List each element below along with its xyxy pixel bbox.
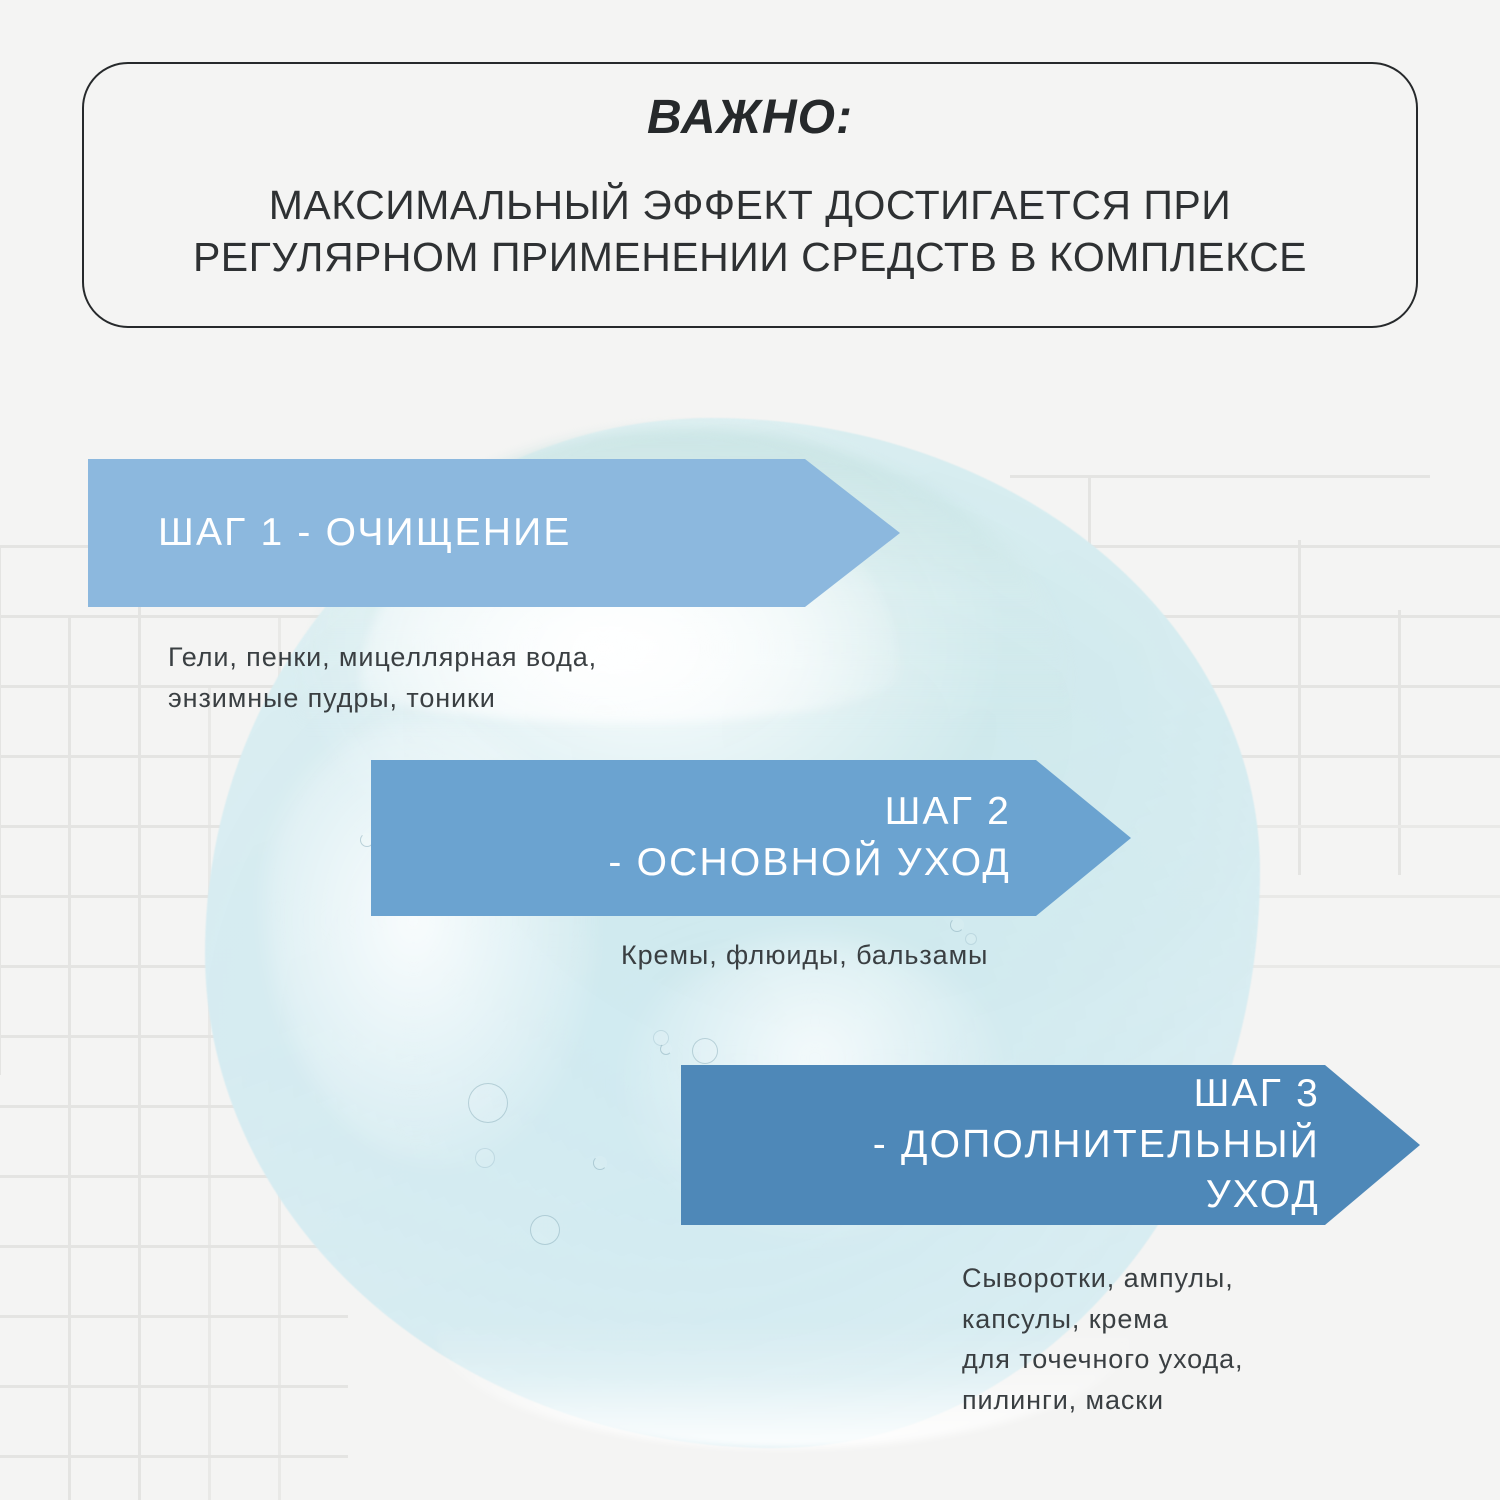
step-1-arrow-shape: ШАГ 1 - ОЧИЩЕНИЕ [88, 459, 900, 607]
bubble-icon [593, 1156, 607, 1170]
bubble-icon [950, 918, 964, 932]
bubble-icon [468, 1083, 508, 1123]
page-subtitle: МАКСИМАЛЬНЫЙ ЭФФЕКТ ДОСТИГАЕТСЯ ПРИ РЕГУ… [193, 179, 1307, 284]
important-callout-box: ВАЖНО: МАКСИМАЛЬНЫЙ ЭФФЕКТ ДОСТИГАЕТСЯ П… [82, 62, 1418, 328]
step-1-label: ШАГ 1 - ОЧИЩЕНИЕ [88, 508, 900, 559]
bubble-icon [653, 1030, 669, 1046]
bubble-icon [475, 1148, 495, 1168]
step-2-arrow-shape: ШАГ 2 - ОСНОВНОЙ УХОД [371, 760, 1131, 916]
bubble-icon [660, 1043, 672, 1055]
step-2-arrow[interactable]: ШАГ 2 - ОСНОВНОЙ УХОД [371, 760, 1131, 916]
step-2-label: ШАГ 2 - ОСНОВНОЙ УХОД [371, 787, 1131, 888]
bubble-icon [530, 1215, 560, 1245]
bubble-icon [692, 1038, 718, 1064]
page-title: ВАЖНО: [647, 92, 853, 145]
step-2-caption: Кремы, флюиды, бальзамы [621, 935, 988, 976]
step-1-arrow[interactable]: ШАГ 1 - ОЧИЩЕНИЕ [88, 459, 900, 607]
step-1-caption: Гели, пенки, мицеллярная вода, энзимные … [168, 637, 597, 718]
step-3-arrow[interactable]: ШАГ 3 - ДОПОЛНИТЕЛЬНЫЙ УХОД [681, 1065, 1420, 1225]
infographic-canvas: ВАЖНО: МАКСИМАЛЬНЫЙ ЭФФЕКТ ДОСТИГАЕТСЯ П… [0, 0, 1500, 1500]
step-3-arrow-shape: ШАГ 3 - ДОПОЛНИТЕЛЬНЫЙ УХОД [681, 1065, 1420, 1225]
step-3-label: ШАГ 3 - ДОПОЛНИТЕЛЬНЫЙ УХОД [681, 1069, 1420, 1221]
step-3-caption: Сыворотки, ампулы, капсулы, крема для то… [962, 1258, 1243, 1420]
